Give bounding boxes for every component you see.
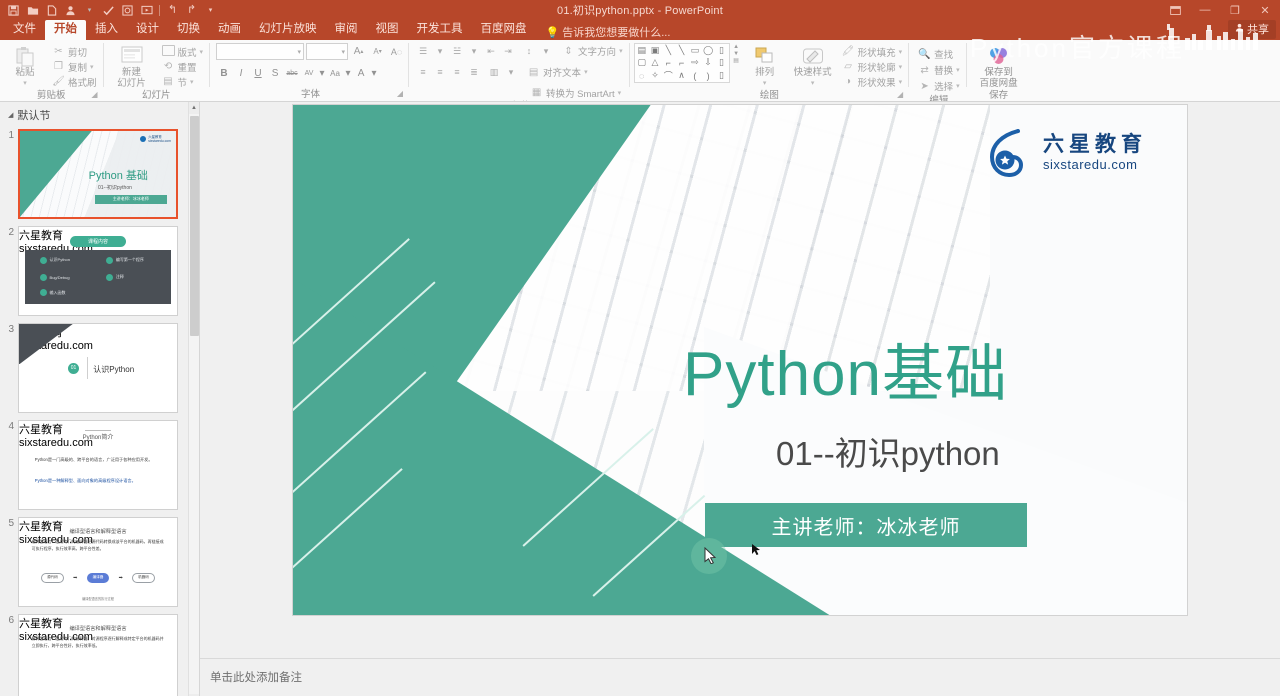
tab-review[interactable]: 审阅 <box>326 20 367 40</box>
shapes-gallery-more-icon[interactable]: ▤ <box>732 58 741 65</box>
align-text-icon: ▤ <box>527 67 540 78</box>
copy-caret-icon[interactable]: ▾ <box>90 63 94 71</box>
ribbon-group-clipboard: 粘贴 ▾ ✂ 剪切 ❐ 复制 ▾ 🖌 格式刷 剪贴板 <box>0 40 103 101</box>
print-preview-icon[interactable] <box>119 2 136 18</box>
select-label: 选择 <box>934 79 953 93</box>
ribbon-group-paragraph: ☰ ▾ ☱ ▾ ⇤ ⇥ ↕ ▾ ⇕ 文字方向 ▾ ≡ ≡ ≡ ≣ ▥ <box>409 40 629 101</box>
thumbnail-frame[interactable]: 课程内容 六星教育 sixstaredu.com 认识Python 编写第一个程… <box>18 226 178 316</box>
thumbnail-number: 5 <box>4 517 14 529</box>
editing-group-label: 编辑 <box>915 94 963 102</box>
mini-divider <box>87 357 88 378</box>
share-label: 共享 <box>1247 21 1269 37</box>
shape-line-icon[interactable]: ╲ <box>662 45 674 56</box>
smartart-icon: ▦ <box>530 87 543 98</box>
shape-angle-icon[interactable]: ∧ <box>675 69 687 82</box>
text-shadow-button[interactable]: S <box>267 65 283 81</box>
align-text-caret-icon[interactable]: ▾ <box>584 68 588 76</box>
shape-arrow-down-icon[interactable]: ⇩ <box>702 57 714 68</box>
paste-caret-icon[interactable]: ▾ <box>23 79 27 90</box>
line-spacing-caret-icon[interactable]: ▾ <box>538 43 554 59</box>
align-right-button[interactable]: ≡ <box>449 64 465 80</box>
arrow-right-icon: ➡ <box>119 575 123 581</box>
notes-placeholder: 单击此处添加备注 <box>210 672 302 684</box>
logo-text: 六星教育 sixstaredu.com <box>1043 133 1147 173</box>
quick-styles-label: 快速样式 <box>794 68 832 79</box>
section-label: 节 <box>178 75 188 89</box>
numbering-caret-icon[interactable]: ▾ <box>466 43 482 59</box>
save-to-baidu-label-1: 保存到 <box>984 68 1013 79</box>
scrollbar-thumb[interactable] <box>190 116 199 336</box>
shapes-gallery-scroll[interactable]: ▲ ▼ ▤ <box>732 43 741 66</box>
shapes-scroll-up-icon[interactable]: ▲ <box>732 44 741 51</box>
shape-fill-button[interactable]: 🖍 形状填充 ▾ <box>839 44 906 59</box>
shape-triangle-icon[interactable]: △ <box>649 57 661 68</box>
baidu-netdisk-icon <box>987 44 1011 68</box>
minimize-icon[interactable]: — <box>1190 0 1220 20</box>
shape-arrow-icon[interactable]: ╲ <box>675 45 687 56</box>
shape-lbrace-icon[interactable]: ( <box>689 69 701 82</box>
convert-to-smartart-button[interactable]: ▦ 转换为 SmartArt ▾ <box>527 85 624 100</box>
layout-icon <box>162 45 175 59</box>
font-color-caret-icon[interactable]: ▾ <box>370 65 378 81</box>
lightbulb-icon: 💡 <box>546 26 560 39</box>
shape-effects-caret-icon[interactable]: ▾ <box>899 78 903 86</box>
teacher-banner[interactable]: 主讲老师：冰冰老师 <box>705 503 1027 547</box>
thumbnail-slide-3[interactable]: 3 六星教育 sixstaredu.com 01 认识Python <box>0 320 199 417</box>
mini-heading: 课程内容 <box>70 236 127 247</box>
save-icon[interactable] <box>5 2 22 18</box>
paste-label: 粘贴 <box>15 68 34 79</box>
shape-outline-button[interactable]: ▱ 形状轮廓 ▾ <box>839 59 906 74</box>
convert-smartart-label: 转换为 SmartArt <box>546 86 615 100</box>
thumbnail-frame[interactable]: 六星教育 sixstaredu.com 01 认识Python <box>18 323 178 413</box>
mini-paragraph: Python是一种解释型、面向对象的高级程序设计语言。 <box>35 477 161 484</box>
shape-effects-button[interactable]: ◑ 形状效果 ▾ <box>839 74 906 89</box>
font-name-input[interactable]: ▾ <box>216 43 304 60</box>
clipboard-group-label: 剪贴板 ◢ <box>3 89 100 102</box>
align-text-label: 对齐文本 <box>543 65 581 79</box>
shape-frame-icon[interactable]: ▣ <box>649 45 661 56</box>
replace-button[interactable]: ⇄ 替换 ▾ <box>915 62 963 78</box>
close-icon[interactable]: ✕ <box>1250 0 1280 20</box>
section-button[interactable]: ▤ 节 ▾ <box>159 74 207 89</box>
thumbnail-frame[interactable]: 编译型语言和解释型语言 六星教育 sixstaredu.com 解释型语言：是用… <box>18 614 178 696</box>
drawing-dialog-launcher-icon[interactable]: ◢ <box>897 88 903 101</box>
thumbnail-number: 2 <box>4 226 14 238</box>
mini-agenda-item: 注释 <box>106 274 124 281</box>
select-caret-icon[interactable]: ▾ <box>956 82 960 90</box>
thumbnail-frame[interactable]: Python简介 六星教育 sixstaredu.com Python是一门高级… <box>18 420 178 510</box>
shape-fill-icon: 🖍 <box>842 46 855 57</box>
thumbnail-slide-1[interactable]: 1 六星教育 sixstaredu.com Python 基础 01--初识py… <box>0 126 199 223</box>
italic-button[interactable]: I <box>233 65 249 81</box>
save-group-label: 保存 <box>973 89 1025 102</box>
columns-button[interactable]: ▥ <box>486 64 502 80</box>
shape-pentagon-icon[interactable]: ◌ <box>636 69 648 82</box>
line-spacing-button[interactable]: ↕ <box>521 43 537 59</box>
change-case-caret-icon[interactable]: ▾ <box>344 65 352 81</box>
shape-fill-label: 形状填充 <box>858 45 896 59</box>
shape-outline-icon: ▱ <box>842 61 855 72</box>
mini-caption: 编译型语言的执行过程 <box>19 596 177 601</box>
spellcheck-icon[interactable] <box>100 2 117 18</box>
font-dialog-launcher-icon[interactable]: ◢ <box>397 87 403 100</box>
format-painter-button[interactable]: 🖌 格式刷 <box>49 74 100 89</box>
tab-design[interactable]: 设计 <box>127 20 168 40</box>
layout-caret-icon[interactable]: ▾ <box>200 48 204 56</box>
mini-flow-node: 编译器 <box>87 573 110 583</box>
ribbon-display-options-icon[interactable] <box>1160 0 1190 20</box>
mini-flow: 源代码 ➡ 编译器 ➡ 机器码 <box>41 573 155 583</box>
slides-group-label: 幻灯片 <box>107 89 207 102</box>
quick-styles-caret-icon[interactable]: ▾ <box>811 79 815 90</box>
logo-mark-icon <box>988 129 1034 177</box>
qat-more-icon[interactable]: ▾ <box>202 2 219 18</box>
logo-text-en: sixstaredu.com <box>1043 157 1147 173</box>
mini-badge: 01 <box>68 363 79 374</box>
notes-pane[interactable]: 单击此处添加备注 <box>200 658 1280 696</box>
section-caret-icon[interactable]: ▾ <box>190 78 194 86</box>
share-button[interactable]: 共享 <box>1228 20 1276 39</box>
tab-home[interactable]: 开始 <box>45 20 86 40</box>
mini-slide-4: Python简介 六星教育 sixstaredu.com Python是一门高级… <box>19 421 177 509</box>
thumbnail-frame-selected[interactable]: 六星教育 sixstaredu.com Python 基础 01--初识pyth… <box>18 129 178 219</box>
current-slide[interactable]: 六星教育 sixstaredu.com Python基础 01--初识pytho… <box>293 105 1187 615</box>
ribbon: 粘贴 ▾ ✂ 剪切 ❐ 复制 ▾ 🖌 格式刷 剪贴板 <box>0 40 1280 102</box>
mini-rule <box>85 430 110 431</box>
align-center-button[interactable]: ≡ <box>432 64 448 80</box>
bold-button[interactable]: B <box>216 65 232 81</box>
scissors-icon: ✂ <box>52 46 65 57</box>
brand-logo[interactable]: 六星教育 sixstaredu.com <box>988 129 1147 177</box>
clear-formatting-button[interactable]: A◌ <box>388 43 405 60</box>
reset-button[interactable]: ⟲ 重置 <box>159 59 207 74</box>
quick-access-toolbar: ▾ ↰ ↱ ▾ <box>0 2 219 18</box>
arrange-icon <box>755 44 775 68</box>
select-button[interactable]: ➤ 选择 ▾ <box>915 78 963 94</box>
shape-more-1-icon[interactable]: ▯ <box>715 45 727 56</box>
redo-icon[interactable]: ↱ <box>183 2 200 18</box>
shape-curve-icon[interactable]: ⌒ <box>662 69 674 82</box>
share-person-icon <box>1235 23 1244 35</box>
thumbnail-number: 3 <box>4 323 14 335</box>
justify-button[interactable]: ≣ <box>466 64 482 80</box>
paste-icon <box>15 44 35 68</box>
mini-subtitle: 01--初识python <box>98 184 132 191</box>
open-folder-icon[interactable] <box>24 2 41 18</box>
mini-agenda-item: 输入函数 <box>40 289 66 296</box>
copy-button[interactable]: ❐ 复制 ▾ <box>49 59 100 74</box>
logo: 六星教育 sixstaredu.com <box>140 135 171 143</box>
ribbon-tab-strip: 文件 开始 插入 设计 切换 动画 幻灯片放映 审阅 视图 开发工具 百度网盘 … <box>0 20 1280 40</box>
start-slideshow-icon[interactable] <box>138 2 155 18</box>
shape-arrow-right-icon[interactable]: ⇨ <box>689 57 701 68</box>
reset-icon: ⟲ <box>162 61 175 72</box>
text-direction-label: 文字方向 <box>578 44 616 58</box>
mini-slide-2: 课程内容 六星教育 sixstaredu.com 认识Python 编写第一个程… <box>19 227 177 315</box>
mini-heading: 编译型语言和解释型语言 <box>19 528 177 535</box>
new-file-icon[interactable] <box>43 2 60 18</box>
window-controls: — ❐ ✕ <box>1160 0 1280 20</box>
mini-slide-3: 六星教育 sixstaredu.com 01 认识Python <box>19 324 177 412</box>
scroll-up-icon[interactable]: ▲ <box>189 102 199 114</box>
mini-slide-5: 编译型语言和解释型语言 六星教育 sixstaredu.com 编译型语言：是用… <box>19 518 177 606</box>
font-color-button[interactable]: A <box>353 65 369 81</box>
quick-styles-button[interactable]: 快速样式 ▾ <box>789 43 837 89</box>
slide-subtitle[interactable]: 01--初识python <box>776 427 1000 475</box>
section-icon: ▤ <box>162 76 175 87</box>
shape-star-icon[interactable]: ✧ <box>649 69 661 82</box>
decrease-indent-button[interactable]: ⇤ <box>483 43 499 59</box>
section-collapse-icon[interactable]: ◢ <box>8 111 13 119</box>
paste-button[interactable]: 粘贴 ▾ <box>3 43 47 89</box>
increase-indent-button[interactable]: ⇥ <box>500 43 516 59</box>
shape-textbox-icon[interactable]: ▤ <box>636 45 648 56</box>
shape-more-2-icon[interactable]: ▯ <box>715 57 727 68</box>
mini-heading: Python简介 <box>19 432 177 441</box>
work-area: ◢ 默认节 1 六星教育 sixstaredu.com Python 基础 01… <box>0 102 1280 696</box>
underline-button[interactable]: U <box>250 65 266 81</box>
arrow-right-icon: ➡ <box>73 575 77 581</box>
mini-paragraph: Python是一门高级的、跨平台的语言，广泛用于各种应用开发。 <box>35 456 161 463</box>
slide-editor-pane: 六星教育 sixstaredu.com Python基础 01--初识pytho… <box>200 102 1280 696</box>
ribbon-group-save: 保存到 百度网盘 保存 <box>967 40 1028 101</box>
slide-thumbnail-pane[interactable]: ◢ 默认节 1 六星教育 sixstaredu.com Python 基础 01… <box>0 102 200 696</box>
mini-slide-1: 六星教育 sixstaredu.com Python 基础 01--初识pyth… <box>20 131 176 217</box>
replace-label: 替换 <box>934 63 953 77</box>
arrange-label: 排列 <box>755 68 774 79</box>
tab-file[interactable]: 文件 <box>4 20 45 40</box>
mini-teacher-bar: 主讲老师：冰冰老师 <box>95 195 167 204</box>
character-spacing-button[interactable]: AV <box>301 65 317 81</box>
shape-rbrace-icon[interactable]: ) <box>702 69 714 82</box>
format-painter-label: 格式刷 <box>68 75 97 89</box>
bullets-button[interactable]: ☰ <box>415 43 431 59</box>
arrange-caret-icon[interactable]: ▾ <box>763 79 767 90</box>
format-painter-icon: 🖌 <box>52 76 65 87</box>
slide-canvas[interactable]: 六星教育 sixstaredu.com Python基础 01--初识pytho… <box>200 102 1280 658</box>
ribbon-group-drawing: ▤ ▣ ╲ ╲ ▭ ◯ ▯ ▢ △ ⌐ ⌐ ⇨ ⇩ ▯ ◌ ✧ ⌒ ∧ ( ) <box>630 40 909 101</box>
text-direction-button[interactable]: ⇕ 文字方向 ▾ <box>559 44 626 59</box>
tab-slideshow[interactable]: 幻灯片放映 <box>250 20 326 40</box>
shape-corner-icon[interactable]: ⌐ <box>662 57 674 68</box>
text-direction-icon: ⇕ <box>562 46 575 57</box>
undo-icon[interactable]: ↰ <box>164 2 181 18</box>
shape-fill-caret-icon[interactable]: ▾ <box>899 48 903 56</box>
shape-anchor-icon <box>751 543 761 555</box>
shape-effects-label: 形状效果 <box>858 75 896 89</box>
shape-rect-icon[interactable]: ▭ <box>689 45 701 56</box>
mini-section-label: 认识Python <box>93 364 134 375</box>
logo-mark-icon <box>140 136 146 142</box>
thumbnail-slide-6[interactable]: 6 编译型语言和解释型语言 六星教育 sixstaredu.com 解释型语言：… <box>0 611 199 696</box>
tab-insert[interactable]: 插入 <box>86 20 127 40</box>
mini-title: Python 基础 <box>89 167 148 183</box>
slide-title[interactable]: Python基础 <box>683 323 1008 413</box>
arrange-button[interactable]: 排列 ▾ <box>743 43 787 89</box>
new-slide-button[interactable]: 新建 幻灯片 <box>107 43 157 89</box>
find-label: 查找 <box>934 47 953 61</box>
cut-button[interactable]: ✂ 剪切 <box>49 44 100 59</box>
mini-paragraph: 编译型语言：是用专门的编译器把源代码转换成该平台的机器码，再链接成可执行程序，执… <box>32 539 165 552</box>
shape-roundrect-icon[interactable]: ▢ <box>636 57 648 68</box>
qat-separator <box>159 5 160 16</box>
title-bar: ▾ ↰ ↱ ▾ 01.初识python.pptx - PowerPoint — … <box>0 0 1280 20</box>
tab-animations[interactable]: 动画 <box>209 20 250 40</box>
pointer-icon: ➤ <box>918 81 931 92</box>
ribbon-group-slides: 新建 幻灯片 版式 ▾ ⟲ 重置 ▤ 节 ▾ 幻灯片 <box>104 40 210 101</box>
increase-font-size-button[interactable]: A▴ <box>350 43 367 60</box>
align-left-button[interactable]: ≡ <box>415 64 431 80</box>
quick-styles-icon <box>802 44 824 68</box>
search-icon: 🔍 <box>918 49 931 60</box>
shape-corner2-icon[interactable]: ⌐ <box>675 57 687 68</box>
tell-me-placeholder: 告诉我您想要做什么... <box>562 24 670 40</box>
smartart-caret-icon[interactable]: ▾ <box>618 89 622 97</box>
save-to-baidu-button[interactable]: 保存到 百度网盘 <box>973 43 1025 89</box>
mini-flow-node: 源代码 <box>41 573 64 583</box>
find-button[interactable]: 🔍 查找 <box>915 46 963 62</box>
mini-agenda-item: Bug/Debug <box>40 274 70 281</box>
font-group-label: 字体 ◢ <box>216 88 405 101</box>
drawing-group-label: 绘图 ◢ <box>634 89 906 102</box>
tab-view[interactable]: 视图 <box>367 20 408 40</box>
mini-agenda-item: 认识Python <box>40 257 70 264</box>
qat-person-caret-icon[interactable]: ▾ <box>81 2 98 18</box>
thumbnail-number: 4 <box>4 420 14 432</box>
replace-icon: ⇄ <box>918 65 931 76</box>
shape-effects-icon: ◑ <box>842 76 855 87</box>
section-label: 默认节 <box>17 107 50 123</box>
shape-outline-caret-icon[interactable]: ▾ <box>899 63 903 71</box>
cursor-arrow-icon <box>704 547 717 567</box>
align-text-button[interactable]: ▤ 对齐文本 ▾ <box>524 65 591 80</box>
font-size-input[interactable]: ▾ <box>306 43 348 60</box>
cut-label: 剪切 <box>68 45 87 59</box>
maximize-icon[interactable]: ❐ <box>1220 0 1250 20</box>
new-slide-label-1: 新建 <box>122 68 141 79</box>
text-direction-caret-icon[interactable]: ▾ <box>619 47 623 55</box>
shapes-gallery[interactable]: ▤ ▣ ╲ ╲ ▭ ◯ ▯ ▢ △ ⌐ ⌐ ⇨ ⇩ ▯ ◌ ✧ ⌒ ∧ ( ) <box>634 43 730 83</box>
thumbnail-slide-5[interactable]: 5 编译型语言和解释型语言 六星教育 sixstaredu.com 编译型语言：… <box>0 514 199 611</box>
section-header[interactable]: ◢ 默认节 <box>0 102 199 126</box>
shapes-scroll-down-icon[interactable]: ▼ <box>732 51 741 58</box>
mini-agenda-item: 编写第一个程序 <box>106 257 144 264</box>
mouse-cursor <box>691 538 727 574</box>
columns-caret-icon[interactable]: ▾ <box>503 64 519 80</box>
change-case-button[interactable]: Aa <box>327 65 343 81</box>
numbering-button[interactable]: ☱ <box>449 43 465 59</box>
shape-more-3-icon[interactable]: ▯ <box>715 69 727 82</box>
character-spacing-caret-icon[interactable]: ▾ <box>318 65 326 81</box>
mini-slide-6: 编译型语言和解释型语言 六星教育 sixstaredu.com 解释型语言：是用… <box>19 615 177 696</box>
ribbon-group-editing: 🔍 查找 ⇄ 替换 ▾ ➤ 选择 ▾ 编辑 <box>909 40 966 101</box>
thumbnail-scrollbar[interactable]: ▲ ▼ <box>188 102 199 696</box>
clipboard-dialog-launcher-icon[interactable]: ◢ <box>91 88 97 101</box>
layout-button[interactable]: 版式 ▾ <box>159 44 207 59</box>
bullets-caret-icon[interactable]: ▾ <box>432 43 448 59</box>
layout-label: 版式 <box>178 45 197 59</box>
tab-developer[interactable]: 开发工具 <box>408 20 472 40</box>
decrease-font-size-button[interactable]: A▾ <box>369 43 386 60</box>
thumbnail-slide-2[interactable]: 2 课程内容 六星教育 sixstaredu.com 认识Python 编写第一… <box>0 223 199 320</box>
thumbnail-frame[interactable]: 编译型语言和解释型语言 六星教育 sixstaredu.com 编译型语言：是用… <box>18 517 178 607</box>
logo-text-cn: 六星教育 <box>1043 133 1147 157</box>
shape-oval-icon[interactable]: ◯ <box>702 45 714 56</box>
copy-icon: ❐ <box>52 61 65 72</box>
tab-baidu-netdisk[interactable]: 百度网盘 <box>472 20 536 40</box>
mini-flow-node: 机器码 <box>132 573 155 583</box>
new-slide-label-2: 幻灯片 <box>117 79 146 90</box>
tab-transitions[interactable]: 切换 <box>168 20 209 40</box>
strikethrough-button[interactable]: abc <box>284 65 300 81</box>
shape-outline-label: 形状轮廓 <box>858 60 896 74</box>
mini-paragraph: 解释型语言：是用专门的解释器，对源程序逐行解释成特定平台的机器码并立即执行，跨平… <box>32 636 165 649</box>
mini-heading: 编译型语言和解释型语言 <box>19 625 177 632</box>
save-to-baidu-label-2: 百度网盘 <box>980 79 1018 90</box>
thumbnail-number: 1 <box>4 129 14 141</box>
thumbnail-number: 6 <box>4 614 14 626</box>
new-slide-icon <box>120 44 144 68</box>
reset-label: 重置 <box>178 60 197 74</box>
copy-label: 复制 <box>68 60 87 74</box>
ribbon-group-font: ▾ ▾ A▴ A▾ A◌ B I U S abc AV ▾ Aa ▾ A <box>210 40 408 101</box>
tell-me-search[interactable]: 💡 告诉我您想要做什么... <box>536 24 671 40</box>
replace-caret-icon[interactable]: ▾ <box>956 66 960 74</box>
customize-person-icon[interactable] <box>62 2 79 18</box>
thumbnail-slide-4[interactable]: 4 Python简介 六星教育 sixstaredu.com Python是一门… <box>0 417 199 514</box>
